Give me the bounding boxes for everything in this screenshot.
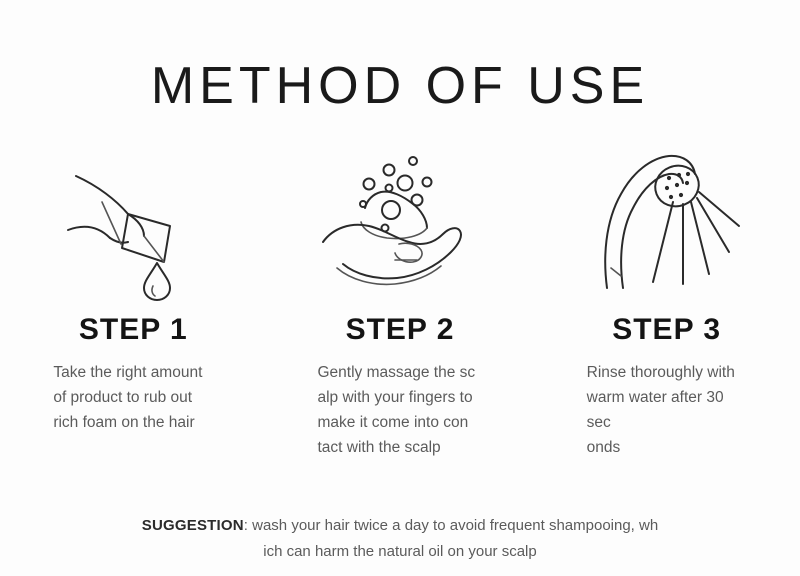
- suggestion-note: SUGGESTION: wash your hair twice a day t…: [0, 487, 800, 564]
- step-1-illustration: [58, 140, 208, 290]
- step-2-illustration: [317, 140, 482, 290]
- step-3-heading: STEP 3: [612, 314, 721, 346]
- step-column-2: STEP 2 Gently massage the sc alp with yo…: [267, 140, 534, 460]
- step-2-heading: STEP 2: [346, 314, 455, 346]
- steps-row: STEP 1 Take the right amount of product …: [0, 140, 800, 460]
- page-title: METHOD OF USE: [0, 58, 800, 115]
- hand-with-foam-bubbles-icon: [317, 150, 482, 290]
- step-2-description: Gently massage the sc alp with your fing…: [317, 360, 482, 460]
- suggestion-text: : wash your hair twice a day to avoid fr…: [244, 517, 658, 560]
- step-column-1: STEP 1 Take the right amount of product …: [0, 140, 267, 435]
- shampoo-bottle-dispensing-drop-icon: [58, 150, 208, 290]
- shower-head-spraying-water-icon: [587, 140, 747, 290]
- step-3-description: Rinse thoroughly with warm water after 3…: [587, 360, 747, 460]
- step-3-illustration: [587, 140, 747, 290]
- step-1-heading: STEP 1: [79, 314, 188, 346]
- suggestion-label: SUGGESTION: [142, 517, 244, 534]
- step-1-description: Take the right amount of product to rub …: [53, 360, 213, 435]
- method-of-use-infographic: METHOD OF USE: [0, 0, 800, 576]
- step-column-3: STEP 3 Rinse thoroughly with warm water …: [533, 140, 800, 460]
